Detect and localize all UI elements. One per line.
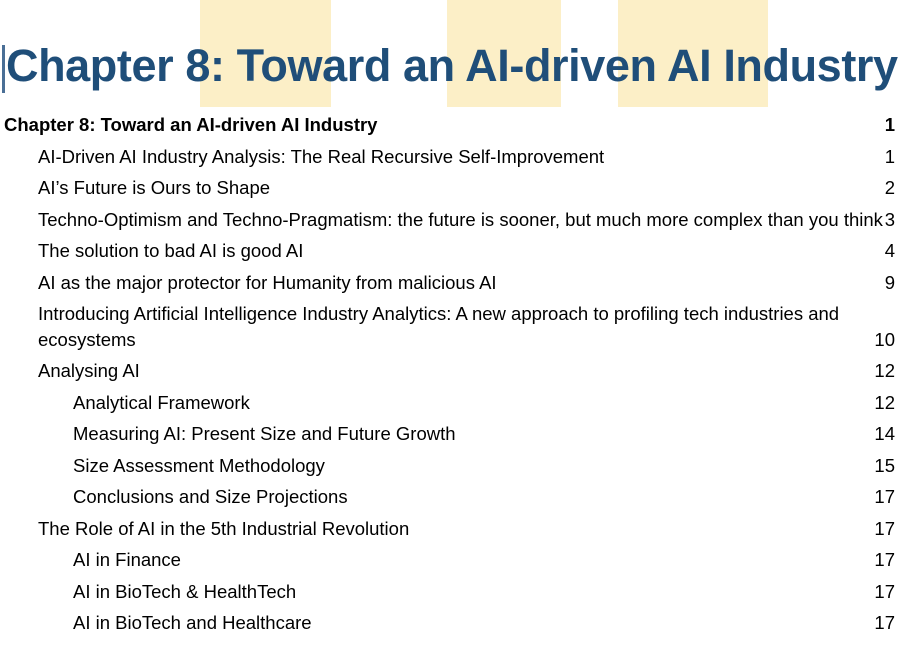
toc-entry-title[interactable]: Introducing Artificial Intelligence Indu…	[38, 301, 895, 352]
toc-entry-inner: Techno-Optimism and Techno-Pragmatism: t…	[38, 207, 895, 233]
toc-entry[interactable]: AI in BioTech & HealthTech17	[0, 579, 917, 605]
toc-entry-inner: Chapter 8: Toward an AI-driven AI Indust…	[4, 112, 895, 138]
toc-entry-title[interactable]: Chapter 8: Toward an AI-driven AI Indust…	[4, 114, 377, 135]
toc-entry[interactable]: Techno-Optimism and Techno-Pragmatism: t…	[0, 207, 917, 233]
toc-entry[interactable]: AI-Driven AI Industry Analysis: The Real…	[0, 144, 917, 170]
toc-entry-title[interactable]: Analytical Framework	[73, 392, 250, 413]
toc-entry[interactable]: Chapter 8: Toward an AI-driven AI Indust…	[0, 112, 917, 138]
toc-entry[interactable]: AI as the major protector for Humanity f…	[0, 270, 917, 296]
toc-entry-page-number: 14	[869, 421, 895, 447]
toc-entry-page-number: 17	[869, 516, 895, 542]
toc-entry-inner: AI in Finance17	[73, 547, 895, 573]
toc-entry-page-number: 15	[869, 453, 895, 479]
toc-entry-page-number: 1	[869, 112, 895, 138]
page-title: Chapter 8: Toward an AI-driven AI Indust…	[6, 38, 898, 94]
toc-entry[interactable]: AI in BioTech and Healthcare17	[0, 610, 917, 636]
toc-entry-page-number: 2	[869, 175, 895, 201]
table-of-contents: Chapter 8: Toward an AI-driven AI Indust…	[0, 112, 917, 642]
toc-entry-title[interactable]: AI-Driven AI Industry Analysis: The Real…	[38, 146, 604, 167]
toc-entry-page-number: 17	[869, 610, 895, 636]
toc-entry-page-number: 17	[869, 579, 895, 605]
toc-entry-title[interactable]: The Role of AI in the 5th Industrial Rev…	[38, 518, 409, 539]
toc-entry-page-number: 17	[869, 547, 895, 573]
toc-entry-inner: The Role of AI in the 5th Industrial Rev…	[38, 516, 895, 542]
toc-entry-title[interactable]: Conclusions and Size Projections	[73, 486, 348, 507]
toc-entry[interactable]: Measuring AI: Present Size and Future Gr…	[0, 421, 917, 447]
toc-entry-title[interactable]: AI in BioTech and Healthcare	[73, 612, 312, 633]
text-cursor-caret	[2, 45, 5, 93]
toc-entry-inner: Conclusions and Size Projections17	[73, 484, 895, 510]
toc-entry[interactable]: AI’s Future is Ours to Shape2	[0, 175, 917, 201]
toc-entry[interactable]: The solution to bad AI is good AI4	[0, 238, 917, 264]
toc-entry[interactable]: Introducing Artificial Intelligence Indu…	[0, 301, 917, 352]
toc-entry-inner: AI in BioTech & HealthTech17	[73, 579, 895, 605]
toc-entry-title[interactable]: AI’s Future is Ours to Shape	[38, 177, 270, 198]
toc-entry-inner: Analysing AI12	[38, 358, 895, 384]
toc-entry-title[interactable]: AI in BioTech & HealthTech	[73, 581, 296, 602]
toc-entry-page-number: 1	[869, 144, 895, 170]
toc-entry[interactable]: Analysing AI12	[0, 358, 917, 384]
toc-entry-page-number: 17	[869, 484, 895, 510]
toc-entry-title[interactable]: AI as the major protector for Humanity f…	[38, 272, 497, 293]
toc-entry-inner: The solution to bad AI is good AI4	[38, 238, 895, 264]
toc-entry-inner: Analytical Framework12	[73, 390, 895, 416]
toc-entry-inner: AI in BioTech and Healthcare17	[73, 610, 895, 636]
toc-entry-page-number: 9	[869, 270, 895, 296]
toc-entry-title[interactable]: Analysing AI	[38, 360, 140, 381]
toc-entry-title[interactable]: The solution to bad AI is good AI	[38, 240, 303, 261]
toc-entry-inner: Measuring AI: Present Size and Future Gr…	[73, 421, 895, 447]
toc-entry-inner: Size Assessment Methodology15	[73, 453, 895, 479]
toc-entry-page-number: 12	[869, 358, 895, 384]
toc-entry[interactable]: The Role of AI in the 5th Industrial Rev…	[0, 516, 917, 542]
toc-entry-title[interactable]: Size Assessment Methodology	[73, 455, 325, 476]
toc-entry-page-number: 12	[869, 390, 895, 416]
toc-entry-page-number: 10	[869, 327, 895, 353]
toc-entry-title[interactable]: Techno-Optimism and Techno-Pragmatism: t…	[38, 207, 895, 233]
toc-entry-title[interactable]: Measuring AI: Present Size and Future Gr…	[73, 423, 456, 444]
toc-entry[interactable]: Analytical Framework12	[0, 390, 917, 416]
toc-entry-inner: AI as the major protector for Humanity f…	[38, 270, 895, 296]
toc-entry[interactable]: AI in Finance17	[0, 547, 917, 573]
toc-entry-inner: AI’s Future is Ours to Shape2	[38, 175, 895, 201]
toc-entry-title[interactable]: AI in Finance	[73, 549, 181, 570]
toc-entry-inner: Introducing Artificial Intelligence Indu…	[38, 301, 895, 352]
toc-entry-page-number: 4	[869, 238, 895, 264]
toc-entry-inner: AI-Driven AI Industry Analysis: The Real…	[38, 144, 895, 170]
toc-entry[interactable]: Size Assessment Methodology15	[0, 453, 917, 479]
toc-entry[interactable]: Conclusions and Size Projections17	[0, 484, 917, 510]
toc-entry-page-number: 3	[869, 207, 895, 233]
